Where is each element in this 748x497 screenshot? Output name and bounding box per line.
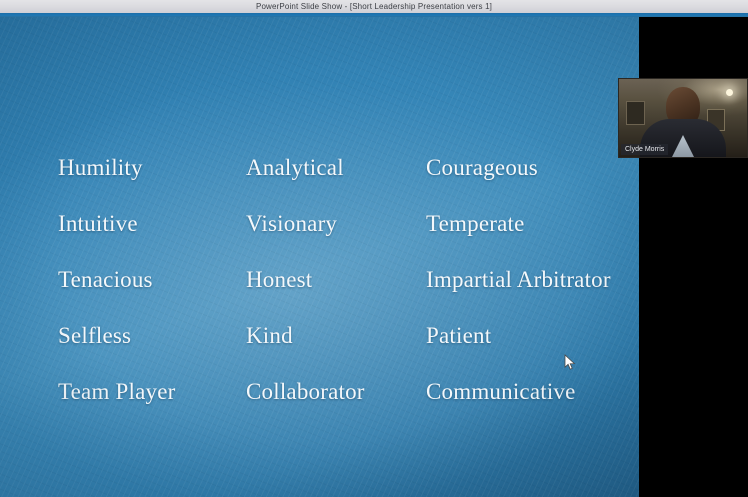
trait-item: Analytical bbox=[246, 156, 426, 180]
webcam-video-overlay[interactable]: Clyde Morris bbox=[618, 78, 748, 158]
trait-item: Courageous bbox=[426, 156, 638, 180]
trait-item: Collaborator bbox=[246, 380, 426, 404]
trait-item: Temperate bbox=[426, 212, 638, 236]
trait-item: Honest bbox=[246, 268, 426, 292]
presentation-slide[interactable]: Humility Analytical Courageous Intuitive… bbox=[0, 14, 639, 497]
trait-item: Team Player bbox=[58, 380, 246, 404]
trait-item: Tenacious bbox=[58, 268, 246, 292]
trait-item: Impartial Arbitrator bbox=[426, 268, 638, 292]
trait-item: Communicative bbox=[426, 380, 638, 404]
leadership-traits-grid: Humility Analytical Courageous Intuitive… bbox=[58, 140, 638, 420]
trait-item: Visionary bbox=[246, 212, 426, 236]
title-bar-accent-line bbox=[0, 13, 748, 17]
window-title-text: PowerPoint Slide Show - [Short Leadershi… bbox=[0, 0, 748, 13]
screen: Humility Analytical Courageous Intuitive… bbox=[0, 0, 748, 497]
trait-item: Kind bbox=[246, 324, 426, 348]
webcam-participant-name: Clyde Morris bbox=[621, 144, 668, 155]
trait-item: Intuitive bbox=[58, 212, 246, 236]
trait-item: Selfless bbox=[58, 324, 246, 348]
window-title-bar[interactable]: PowerPoint Slide Show - [Short Leadershi… bbox=[0, 0, 748, 14]
trait-item: Patient bbox=[426, 324, 638, 348]
webcam-wall-picture-left bbox=[626, 101, 645, 125]
trait-item: Humility bbox=[58, 156, 246, 180]
webcam-lamp-highlight bbox=[726, 89, 733, 96]
